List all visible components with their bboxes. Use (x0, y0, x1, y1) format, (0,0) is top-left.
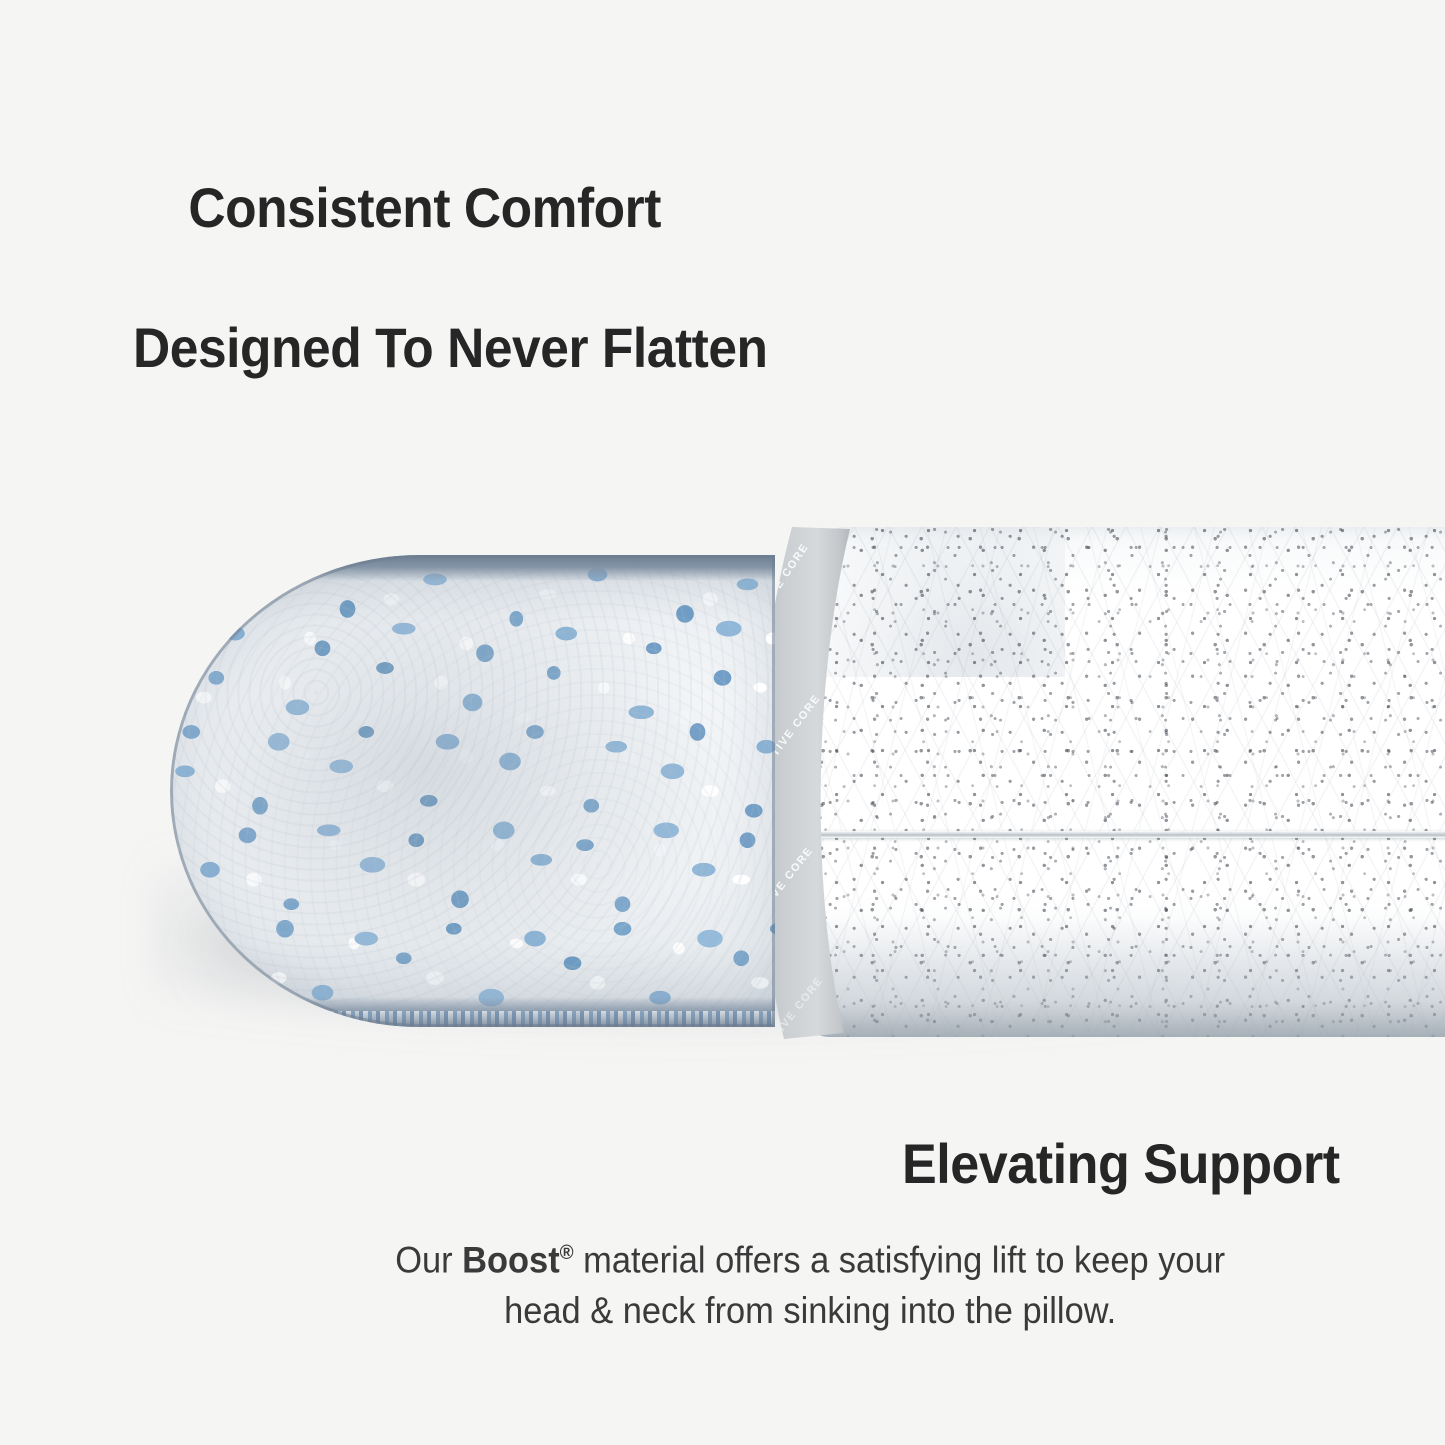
cover-center-seam (785, 831, 1445, 838)
pillow-fabric-cover (785, 527, 1445, 1037)
page-title: Consistent Comfort Designed To Never Fla… (133, 103, 768, 523)
product-feature-graphic: Consistent Comfort Designed To Never Fla… (0, 0, 1445, 1445)
description-prefix: Our (395, 1239, 462, 1280)
headline-line-1: Consistent Comfort (188, 176, 661, 239)
feature-title: Elevating Support (0, 1131, 1340, 1197)
foam-grain-texture (170, 555, 775, 1027)
feature-description: Our Boost® material offers a satisfying … (300, 1228, 1320, 1336)
headline-line-2: Designed To Never Flatten (133, 313, 768, 383)
foam-ragged-cut-edge (210, 1011, 775, 1027)
description-line-1-suffix: material offers a satisfying lift to kee… (573, 1239, 1225, 1280)
pillow-product-image: ACTIVE CORE ACTIVE CORE ACTIVE CORE ACTI… (95, 505, 1445, 1065)
brand-name-boost: Boost (462, 1239, 559, 1280)
feature-title-text: Elevating Support (902, 1131, 1340, 1197)
registered-trademark-symbol: ® (559, 1242, 573, 1264)
foam-chunk-field (170, 555, 775, 1027)
foam-cut-edge-top (170, 555, 775, 581)
description-line-2: head & neck from sinking into the pillow… (504, 1290, 1116, 1331)
cover-bottom-shading (785, 917, 1445, 1037)
boost-foam-core-cutaway (170, 555, 775, 1027)
